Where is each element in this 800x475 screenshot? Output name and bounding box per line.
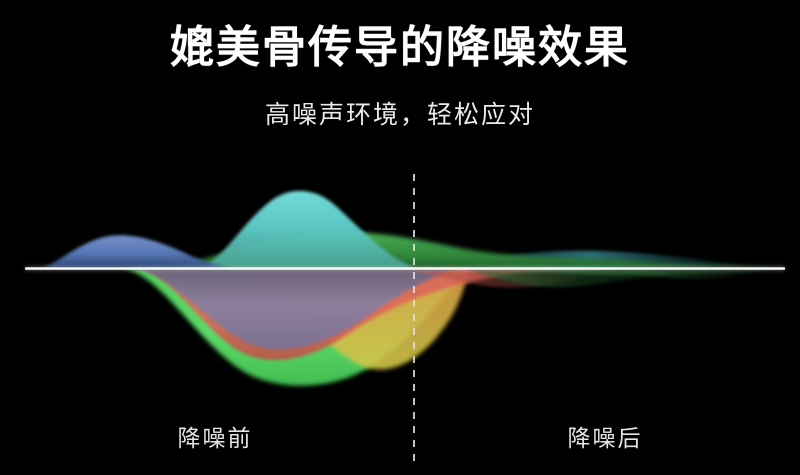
label-after-noise-reduction: 降噪后 <box>515 419 695 453</box>
page-title: 媲美骨传导的降噪效果 <box>0 24 800 72</box>
positive-lobe-group <box>42 191 790 268</box>
blue-lobe <box>42 235 232 268</box>
waveform-visualization <box>0 160 800 405</box>
teal-lobe <box>196 191 414 268</box>
waveform-svg <box>0 160 800 405</box>
before-after-divider <box>413 174 415 466</box>
page-subtitle: 高噪声环境，轻松应对 <box>0 102 800 130</box>
slide-canvas: 媲美骨传导的降噪效果 高噪声环境，轻松应对 <box>0 0 800 475</box>
waveform-baseline <box>25 267 785 270</box>
label-before-noise-reduction: 降噪前 <box>125 419 305 453</box>
